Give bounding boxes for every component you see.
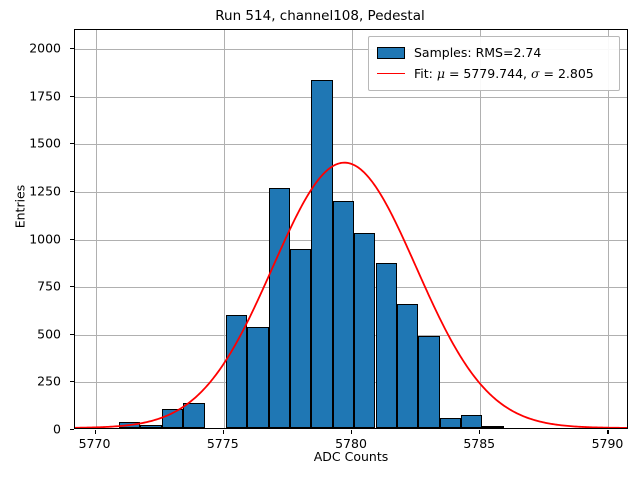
y-tick-mark xyxy=(70,429,74,430)
legend-swatch-samples-icon xyxy=(377,47,405,59)
y-tick-label: 1750 xyxy=(29,88,61,103)
y-tick-label: 2000 xyxy=(29,41,61,56)
y-tick-label: 250 xyxy=(37,374,61,389)
y-tick-mark xyxy=(70,239,74,240)
x-tick-mark xyxy=(607,430,608,434)
y-tick-mark xyxy=(70,48,74,49)
legend-item-samples: Samples: RMS=2.74 xyxy=(377,42,611,63)
x-tick-mark xyxy=(95,430,96,434)
x-tick-mark xyxy=(479,430,480,434)
y-tick-mark xyxy=(70,334,74,335)
x-tick-mark xyxy=(351,430,352,434)
x-axis-label: ADC Counts xyxy=(74,449,628,464)
y-tick-label: 750 xyxy=(37,279,61,294)
y-tick-mark xyxy=(70,143,74,144)
y-tick-label: 1250 xyxy=(29,183,61,198)
y-tick-label: 1500 xyxy=(29,136,61,151)
y-tick-label: 1000 xyxy=(29,231,61,246)
legend-item-fit: Fit: μ = 5779.744, σ = 2.805 xyxy=(377,63,611,84)
figure-canvas: Run 514, channel108, Pedestal Entries 02… xyxy=(0,0,640,480)
legend: Samples: RMS=2.74 Fit: μ = 5779.744, σ =… xyxy=(368,36,620,91)
legend-swatch-fit-icon xyxy=(377,73,405,74)
y-tick-mark xyxy=(70,191,74,192)
legend-label-samples: Samples: RMS=2.74 xyxy=(414,45,541,60)
legend-label-fit: Fit: μ = 5779.744, σ = 2.805 xyxy=(414,66,594,81)
page-title: Run 514, channel108, Pedestal xyxy=(0,8,640,24)
y-tick-mark xyxy=(70,286,74,287)
y-tick-label: 500 xyxy=(37,326,61,341)
y-tick-label: 0 xyxy=(53,422,61,437)
y-tick-mark xyxy=(70,96,74,97)
y-tick-mark xyxy=(70,381,74,382)
y-axis-ticks: 025050075010001250150017502000 xyxy=(0,29,70,429)
x-tick-mark xyxy=(223,430,224,434)
